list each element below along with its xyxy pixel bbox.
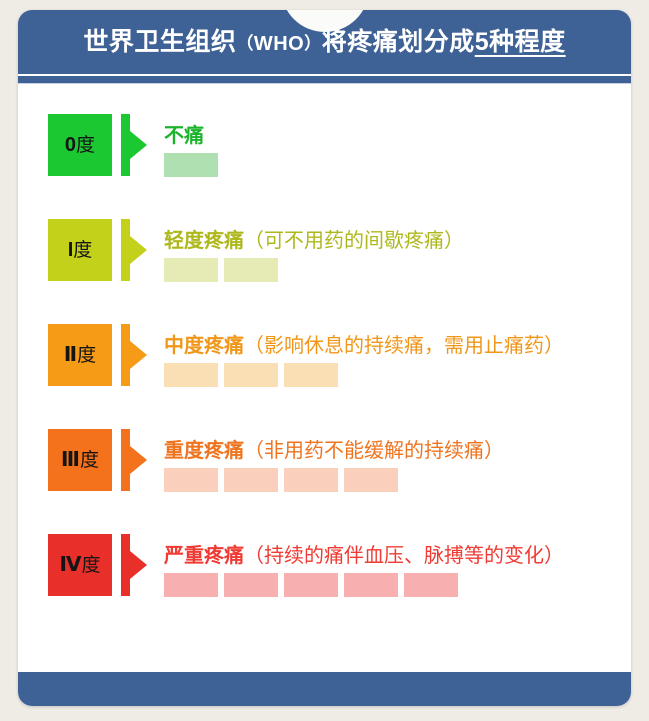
level-label: 轻度疼痛（可不用药的间歇疼痛） [164, 231, 631, 252]
title-text-part1: 世界卫生组织 [83, 28, 236, 56]
who-pain-scale-card: 世界卫生组织（WHO）将疼痛划分成5种程度 0度 不痛 [18, 10, 631, 706]
level-label-note: （可不用药的间歇疼痛） [244, 230, 464, 252]
level-label-strong: 中度疼痛 [164, 335, 244, 357]
level-label-strong: 重度疼痛 [164, 440, 244, 462]
title-paren-open: （ [236, 34, 254, 53]
level-chip-unit: 度 [76, 136, 95, 155]
level-swatch [344, 573, 398, 597]
infographic-page: 世界卫生组织（WHO）将疼痛划分成5种程度 0度 不痛 [0, 0, 649, 721]
level-chip-unit: 度 [73, 241, 92, 260]
level-content: 中度疼痛（影响休息的持续痛，需用止痛药） [164, 324, 631, 387]
level-label: 严重疼痛（持续的痛伴血压、脉搏等的变化） [164, 546, 631, 567]
level-chip-unit: 度 [80, 451, 99, 470]
arrow-bar [121, 534, 130, 596]
arrow-triangle [130, 131, 147, 159]
level-swatch [224, 258, 278, 282]
arrow-triangle [130, 341, 147, 369]
level-swatch [224, 468, 278, 492]
level-chip-roman: Ⅲ [61, 450, 80, 470]
level-label-note: （非用药不能缓解的持续痛） [244, 440, 504, 462]
level-chip: Ⅳ度 [48, 534, 112, 596]
level-chip-roman: 0 [65, 135, 76, 155]
level-swatch-group [164, 573, 631, 597]
level-swatch [164, 573, 218, 597]
level-chip-roman: Ⅳ [60, 555, 82, 575]
level-content: 不痛 [164, 114, 631, 177]
level-label-strong: 严重疼痛 [164, 545, 244, 567]
level-arrow-icon [121, 534, 155, 596]
header-divider [18, 74, 631, 84]
level-swatch [344, 468, 398, 492]
level-label: 中度疼痛（影响休息的持续痛，需用止痛药） [164, 336, 631, 357]
arrow-bar [121, 219, 130, 281]
level-swatch-group [164, 468, 631, 492]
level-swatch [404, 573, 458, 597]
level-swatch-group [164, 258, 631, 282]
pain-level-row: Ⅲ度 重度疼痛（非用药不能缓解的持续痛） [18, 429, 631, 513]
level-content: 严重疼痛（持续的痛伴血压、脉搏等的变化） [164, 534, 631, 597]
title-paren-close: ） [304, 34, 322, 53]
title-text-part2: 将疼痛划分成 [322, 28, 475, 56]
pain-level-row: Ⅳ度 严重疼痛（持续的痛伴血压、脉搏等的变化） [18, 534, 631, 618]
level-swatch [164, 153, 218, 177]
level-swatch-group [164, 363, 631, 387]
level-label: 不痛 [164, 126, 631, 147]
card-footer [18, 672, 631, 706]
level-label: 重度疼痛（非用药不能缓解的持续痛） [164, 441, 631, 462]
pain-level-row: 0度 不痛 [18, 114, 631, 198]
level-swatch-group [164, 153, 631, 177]
arrow-triangle [130, 446, 147, 474]
title-emphasis: 5种程度 [475, 28, 566, 56]
level-swatch [224, 573, 278, 597]
pain-level-row: I度 轻度疼痛（可不用药的间歇疼痛） [18, 219, 631, 303]
level-swatch [164, 468, 218, 492]
level-label-strong: 轻度疼痛 [164, 230, 244, 252]
level-swatch [164, 258, 218, 282]
level-swatch [284, 573, 338, 597]
level-content: 重度疼痛（非用药不能缓解的持续痛） [164, 429, 631, 492]
card-header: 世界卫生组织（WHO）将疼痛划分成5种程度 [18, 10, 631, 74]
level-arrow-icon [121, 429, 155, 491]
level-chip-unit: 度 [81, 556, 100, 575]
page-title: 世界卫生组织（WHO）将疼痛划分成5种程度 [83, 30, 565, 55]
level-chip-unit: 度 [77, 346, 96, 365]
arrow-bar [121, 429, 130, 491]
arrow-triangle [130, 236, 147, 264]
title-who-abbrev: WHO [254, 33, 304, 55]
pain-levels-list: 0度 不痛 I度 [18, 84, 631, 672]
level-arrow-icon [121, 324, 155, 386]
level-arrow-icon [121, 219, 155, 281]
level-swatch [164, 363, 218, 387]
level-swatch [224, 363, 278, 387]
level-label-note: （持续的痛伴血压、脉搏等的变化） [244, 545, 564, 567]
pain-level-row: Ⅱ度 中度疼痛（影响休息的持续痛，需用止痛药） [18, 324, 631, 408]
level-label-strong: 不痛 [164, 125, 204, 147]
level-label-note: （影响休息的持续痛，需用止痛药） [244, 335, 564, 357]
level-swatch [284, 363, 338, 387]
level-arrow-icon [121, 114, 155, 176]
level-swatch [284, 468, 338, 492]
level-chip-roman: Ⅱ [64, 345, 77, 365]
level-chip: I度 [48, 219, 112, 281]
level-chip: Ⅲ度 [48, 429, 112, 491]
level-content: 轻度疼痛（可不用药的间歇疼痛） [164, 219, 631, 282]
arrow-triangle [130, 551, 147, 579]
arrow-bar [121, 324, 130, 386]
level-chip: Ⅱ度 [48, 324, 112, 386]
arrow-bar [121, 114, 130, 176]
level-chip: 0度 [48, 114, 112, 176]
